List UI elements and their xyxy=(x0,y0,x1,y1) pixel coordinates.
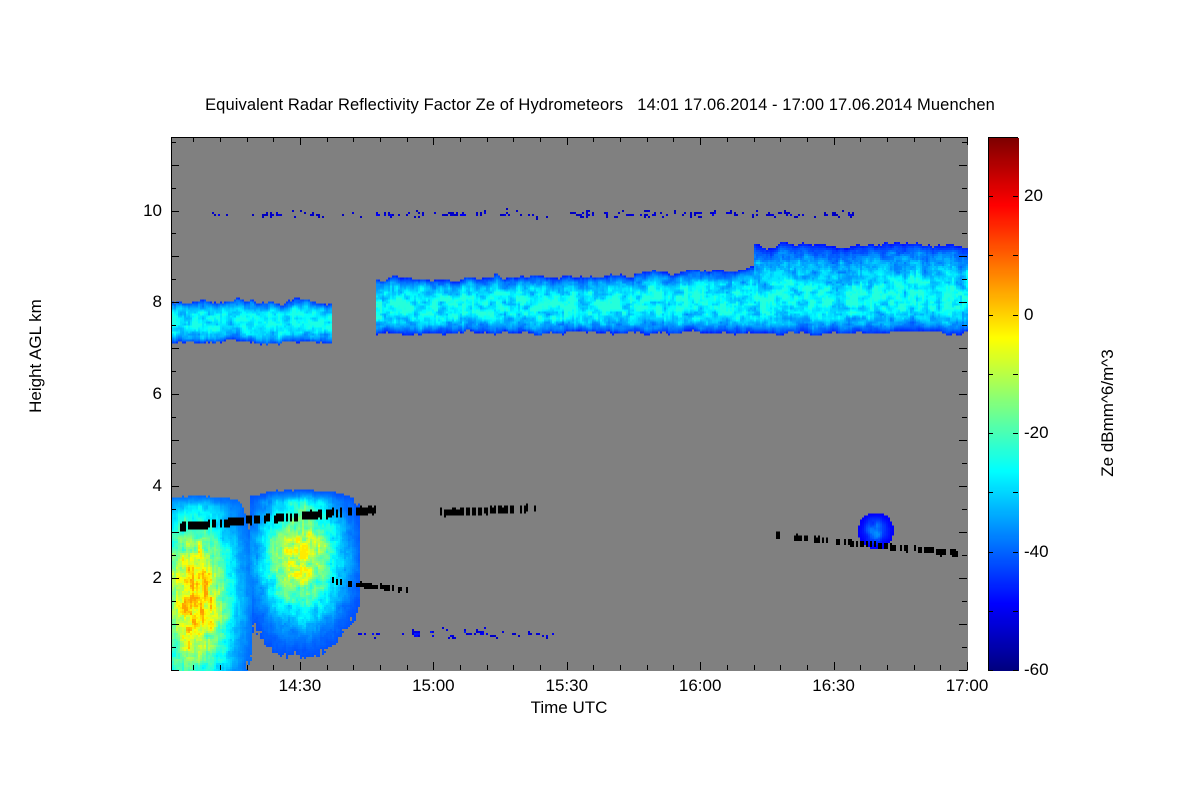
axis-tick xyxy=(353,665,354,670)
axis-tick xyxy=(171,417,176,418)
axis-tick xyxy=(967,137,968,145)
axis-tick xyxy=(962,601,967,602)
axis-tick xyxy=(988,670,993,671)
axis-tick xyxy=(962,142,967,143)
axis-tick xyxy=(807,665,808,670)
axis-tick xyxy=(220,665,221,670)
axis-tick xyxy=(834,137,835,145)
colorbar-tick-label: 20 xyxy=(1024,186,1043,206)
axis-tick xyxy=(962,233,967,234)
axis-tick xyxy=(1013,374,1018,375)
axis-tick xyxy=(300,662,301,670)
axis-tick xyxy=(300,137,301,145)
axis-tick xyxy=(193,137,194,142)
axis-tick xyxy=(959,670,967,671)
axis-tick xyxy=(988,137,993,138)
axis-tick xyxy=(988,552,993,553)
axis-tick xyxy=(959,256,967,257)
axis-tick xyxy=(171,279,176,280)
axis-tick xyxy=(593,137,594,142)
axis-tick xyxy=(914,137,915,142)
axis-tick xyxy=(940,137,941,142)
colorbar-tick-label: -60 xyxy=(1024,660,1049,680)
axis-tick xyxy=(959,486,967,487)
axis-tick xyxy=(647,137,648,142)
axis-tick xyxy=(171,647,176,648)
axis-tick xyxy=(727,137,728,142)
axis-tick xyxy=(962,371,967,372)
axis-tick xyxy=(567,662,568,670)
x-tick-label: 16:30 xyxy=(812,676,855,696)
axis-tick xyxy=(727,665,728,670)
y-axis-tick-labels: 246810 xyxy=(100,137,162,670)
axis-tick xyxy=(171,670,179,671)
axis-tick xyxy=(171,509,176,510)
axis-tick xyxy=(407,137,408,142)
axis-tick xyxy=(1013,137,1018,138)
axis-tick xyxy=(959,532,967,533)
y-tick-label: 4 xyxy=(102,476,162,496)
axis-tick xyxy=(1013,611,1018,612)
axis-tick xyxy=(959,624,967,625)
axis-tick xyxy=(171,348,179,349)
axis-tick xyxy=(513,137,514,142)
x-tick-label: 16:00 xyxy=(679,676,722,696)
axis-tick xyxy=(171,211,179,212)
axis-tick xyxy=(1013,433,1018,434)
axis-tick xyxy=(988,374,993,375)
axis-tick xyxy=(673,137,674,142)
axis-tick xyxy=(962,417,967,418)
x-tick-label: 15:00 xyxy=(412,676,455,696)
y-axis-title: Height AGL km xyxy=(26,246,46,466)
axis-tick xyxy=(860,137,861,142)
x-axis-title: Time UTC xyxy=(171,698,967,718)
y-tick-label: 6 xyxy=(102,384,162,404)
axis-tick xyxy=(962,647,967,648)
axis-tick xyxy=(171,555,176,556)
axis-tick xyxy=(959,302,967,303)
radar-figure: Equivalent Radar Reflectivity Factor Ze … xyxy=(0,0,1200,800)
colorbar-tick-label: 0 xyxy=(1024,305,1033,325)
axis-tick xyxy=(567,137,568,145)
axis-tick xyxy=(171,440,179,441)
axis-tick xyxy=(834,662,835,670)
axis-tick xyxy=(540,137,541,142)
axis-tick xyxy=(780,665,781,670)
colorbar-gradient xyxy=(989,138,1019,671)
axis-tick xyxy=(780,137,781,142)
axis-tick xyxy=(171,188,176,189)
axis-tick xyxy=(988,611,993,612)
axis-tick xyxy=(460,665,461,670)
figure-title: Equivalent Radar Reflectivity Factor Ze … xyxy=(0,96,1200,115)
axis-tick xyxy=(754,137,755,142)
axis-tick xyxy=(959,211,967,212)
axis-tick xyxy=(959,165,967,166)
axis-tick xyxy=(171,165,179,166)
axis-tick xyxy=(700,137,701,145)
axis-tick xyxy=(487,665,488,670)
axis-tick xyxy=(327,665,328,670)
axis-tick xyxy=(962,555,967,556)
axis-tick xyxy=(962,188,967,189)
axis-tick xyxy=(914,665,915,670)
axis-tick xyxy=(1013,552,1018,553)
axis-tick xyxy=(988,433,993,434)
axis-tick xyxy=(193,665,194,670)
axis-tick xyxy=(380,665,381,670)
x-tick-label: 17:00 xyxy=(946,676,989,696)
colorbar-tick-label: -20 xyxy=(1024,423,1049,443)
axis-tick xyxy=(247,137,248,142)
axis-tick xyxy=(940,665,941,670)
axis-tick xyxy=(273,665,274,670)
axis-tick xyxy=(540,665,541,670)
axis-tick xyxy=(1013,315,1018,316)
axis-tick xyxy=(171,578,179,579)
x-tick-label: 15:30 xyxy=(545,676,588,696)
axis-tick xyxy=(433,137,434,145)
axis-tick xyxy=(959,394,967,395)
axis-tick xyxy=(962,509,967,510)
axis-tick xyxy=(273,137,274,142)
axis-tick xyxy=(487,137,488,142)
colorbar[interactable] xyxy=(988,137,1018,670)
axis-tick xyxy=(171,463,176,464)
axis-tick xyxy=(700,662,701,670)
axis-tick xyxy=(171,486,179,487)
axis-tick xyxy=(860,665,861,670)
y-tick-label: 2 xyxy=(102,568,162,588)
y-tick-label: 10 xyxy=(102,201,162,221)
colorbar-tick-label: -40 xyxy=(1024,542,1049,562)
plot-area[interactable] xyxy=(171,137,967,670)
axis-tick xyxy=(754,665,755,670)
axis-tick xyxy=(620,665,621,670)
x-tick-label: 14:30 xyxy=(279,676,322,696)
axis-tick xyxy=(327,137,328,142)
axis-tick xyxy=(171,142,176,143)
axis-tick xyxy=(988,196,993,197)
axis-tick xyxy=(171,601,176,602)
axis-tick xyxy=(959,578,967,579)
axis-tick xyxy=(460,137,461,142)
axis-tick xyxy=(807,137,808,142)
axis-tick xyxy=(407,665,408,670)
axis-tick xyxy=(962,279,967,280)
axis-tick xyxy=(673,665,674,670)
axis-tick xyxy=(959,440,967,441)
axis-tick xyxy=(887,665,888,670)
axis-tick xyxy=(988,315,993,316)
axis-tick xyxy=(593,665,594,670)
axis-tick xyxy=(171,256,179,257)
axis-tick xyxy=(171,233,176,234)
axis-tick xyxy=(380,137,381,142)
axis-tick xyxy=(1013,255,1018,256)
axis-tick xyxy=(1013,196,1018,197)
axis-tick xyxy=(962,463,967,464)
axis-tick xyxy=(988,492,993,493)
axis-tick xyxy=(988,255,993,256)
axis-tick xyxy=(647,665,648,670)
axis-tick xyxy=(353,137,354,142)
axis-tick xyxy=(513,665,514,670)
axis-tick xyxy=(247,665,248,670)
axis-tick xyxy=(959,348,967,349)
axis-tick xyxy=(171,302,179,303)
axis-tick xyxy=(171,532,179,533)
axis-tick xyxy=(1013,670,1018,671)
axis-tick xyxy=(967,662,968,670)
axis-tick xyxy=(171,371,176,372)
axis-tick xyxy=(887,137,888,142)
axis-tick xyxy=(171,325,176,326)
axis-tick xyxy=(171,624,179,625)
axis-tick xyxy=(433,662,434,670)
radar-heatmap-canvas xyxy=(172,138,968,671)
axis-tick xyxy=(620,137,621,142)
axis-tick xyxy=(171,394,179,395)
axis-tick xyxy=(220,137,221,142)
y-tick-label: 8 xyxy=(102,292,162,312)
axis-tick xyxy=(1013,492,1018,493)
colorbar-title: Ze dBmm^6/m^3 xyxy=(1098,283,1118,543)
axis-tick xyxy=(962,325,967,326)
